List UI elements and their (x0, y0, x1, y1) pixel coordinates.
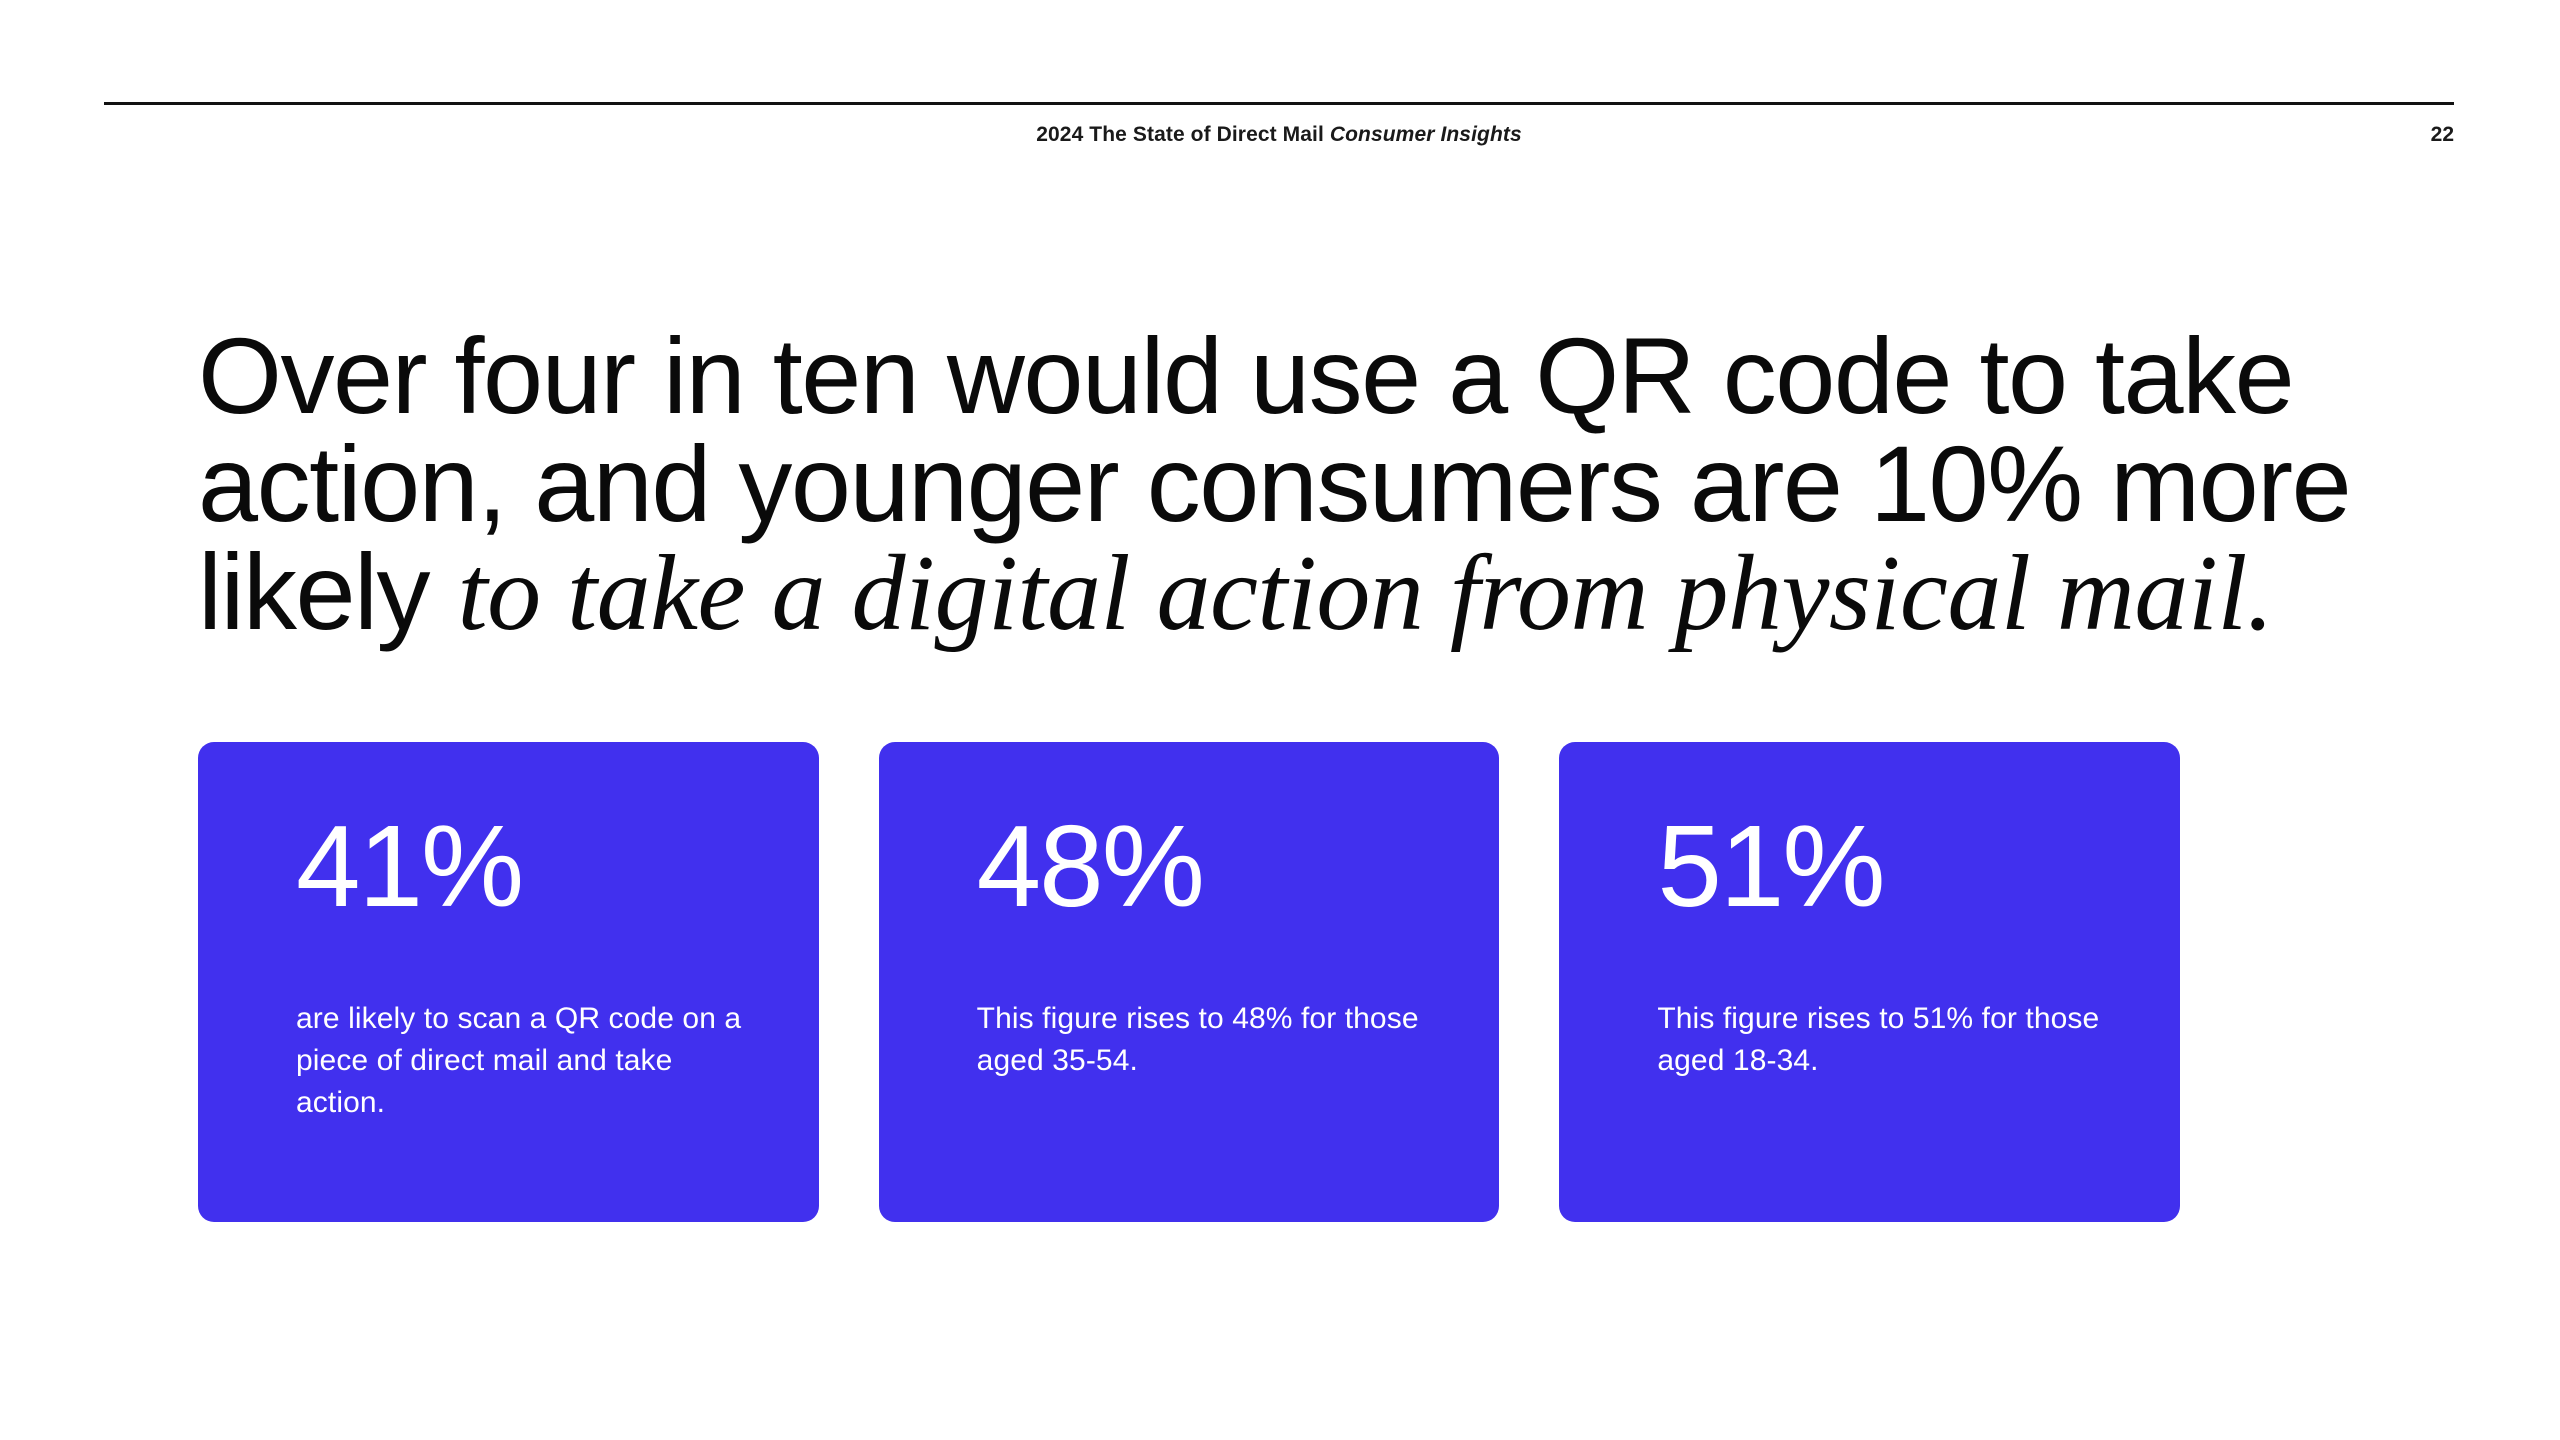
slide: 2024 The State of Direct Mail Consumer I… (0, 0, 2560, 1440)
stat-card-description: are likely to scan a QR code on a piece … (296, 998, 759, 1124)
stat-card-value: 48% (977, 804, 1430, 928)
header-title: 2024 The State of Direct Mail Consumer I… (104, 118, 2454, 152)
running-header: 2024 The State of Direct Mail Consumer I… (104, 118, 2454, 152)
header-title-regular: 2024 The State of Direct Mail (1036, 123, 1330, 146)
header-divider (104, 102, 2454, 105)
stat-card-description: This figure rises to 48% for those aged … (977, 998, 1450, 1082)
header-title-italic: Consumer Insights (1330, 123, 1522, 146)
headline-line-3: likely to take a digital action from phy… (198, 538, 2358, 648)
headline-line-3-regular: likely (198, 531, 458, 652)
headline-line-2: action, and younger consumers are 10% mo… (198, 430, 2358, 538)
headline-line-3-italic: to take a digital action from physical m… (458, 534, 2274, 653)
stat-card-41: 41% are likely to scan a QR code on a pi… (198, 742, 819, 1222)
page-number: 22 (2431, 118, 2454, 152)
page-title: Over four in ten would use a QR code to … (198, 322, 2358, 648)
stat-card-value: 51% (1657, 804, 2110, 928)
headline-line-1: Over four in ten would use a QR code to … (198, 322, 2358, 430)
stat-card-51: 51% This figure rises to 51% for those a… (1559, 742, 2180, 1222)
stat-card-48: 48% This figure rises to 48% for those a… (879, 742, 1500, 1222)
stat-card-value: 41% (296, 804, 749, 928)
stat-card-description: This figure rises to 51% for those aged … (1657, 998, 2130, 1082)
stat-card-group: 41% are likely to scan a QR code on a pi… (198, 742, 2180, 1222)
